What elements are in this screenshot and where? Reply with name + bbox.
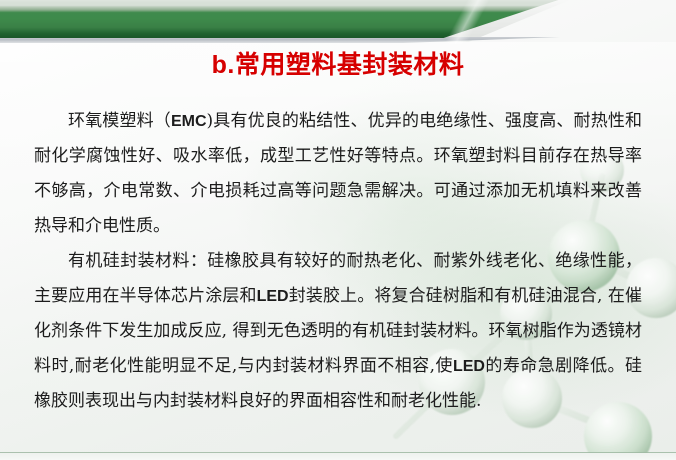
text-run-latin: EMC: [171, 113, 207, 130]
header-banner: [0, 0, 676, 44]
slide-body: 环氧模塑料（EMC)具有优良的粘结性、优异的电绝缘性、强度高、耐热性和耐化学腐蚀…: [34, 104, 642, 419]
text-run-cjk: 环氧模塑料（: [68, 111, 171, 131]
slide-title-lead: b.: [212, 51, 235, 79]
paragraph-silicone: 有机硅封装材料：硅橡胶具有较好的耐热老化、耐紫外线老化、绝缘性能，主要应用在半导…: [34, 244, 642, 419]
slide-title: b.常用塑料基封装材料: [0, 48, 676, 82]
bottom-strip: [0, 453, 676, 460]
paragraph-emc: 环氧模塑料（EMC)具有优良的粘结性、优异的电绝缘性、强度高、耐热性和耐化学腐蚀…: [34, 104, 642, 244]
slide-canvas: b.常用塑料基封装材料 环氧模塑料（EMC)具有优良的粘结性、优异的电绝缘性、强…: [0, 0, 676, 460]
text-run-latin: LED: [257, 288, 289, 305]
text-run-latin: LED: [453, 358, 485, 375]
slide-title-main: 常用塑料基封装材料: [235, 50, 465, 79]
